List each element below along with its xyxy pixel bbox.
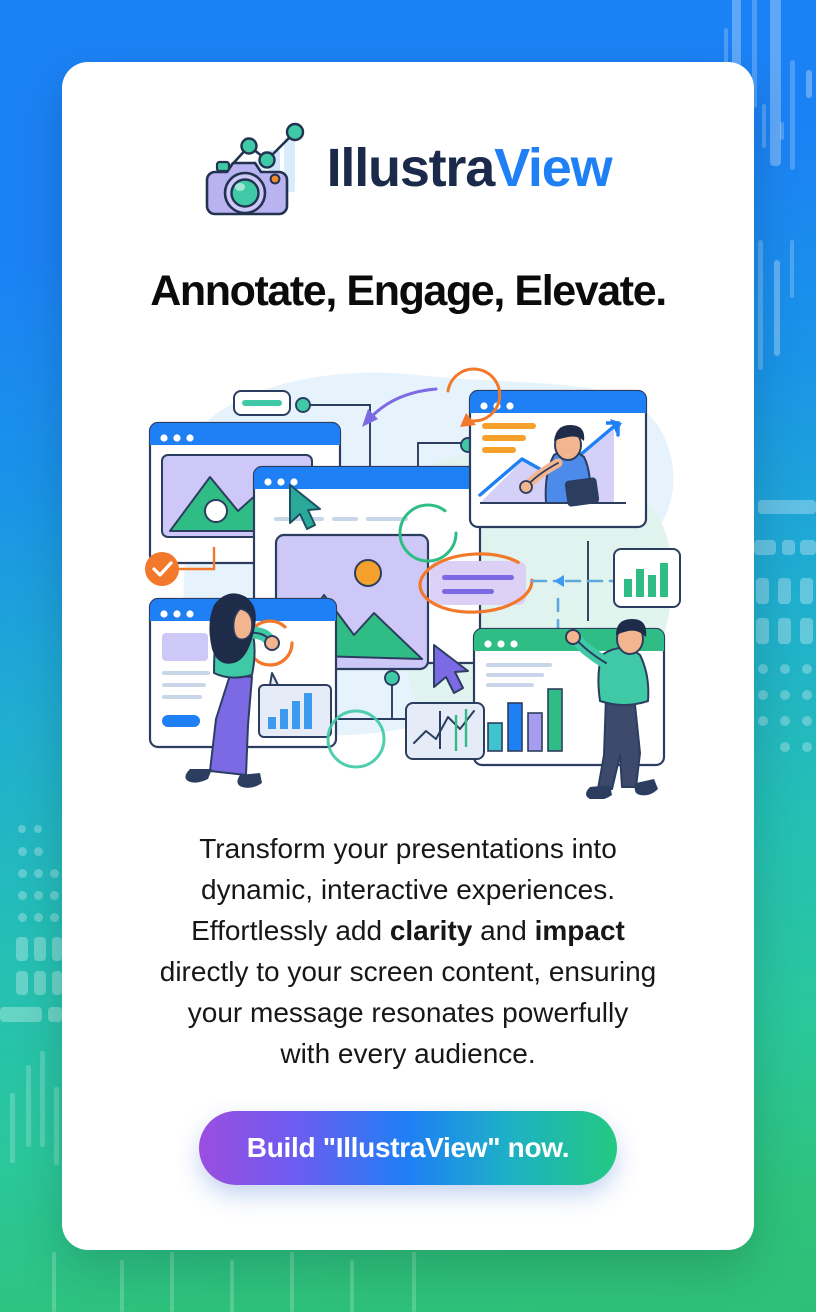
logo: IllustraView [205,116,612,220]
logo-text-primary: Illustra [327,138,494,198]
body-emphasis-impact: impact [535,915,625,946]
background-pattern-bottom-stripes [40,1252,780,1312]
body-line-6: with every audience. [280,1038,535,1069]
browser-window-4 [470,391,646,527]
body-line-3-mid: and [472,915,534,946]
bar-chart-card [614,549,680,607]
hero-illustration [118,351,698,799]
body-line-3-pre: Effortlessly add [191,915,390,946]
body-line-5: your message resonates powerfully [188,997,628,1028]
logo-text-secondary: View [494,138,611,198]
body-copy: Transform your presentations into dynami… [160,829,656,1074]
poster-root: IllustraView Annotate, Engage, Elevate. [0,0,816,1312]
body-line-4: directly to your screen content, ensurin… [160,956,656,987]
body-line-1: Transform your presentations into [199,833,617,864]
annotation-scene-illustration [118,351,698,799]
top-pill [234,391,290,415]
logo-text: IllustraView [327,141,612,195]
headline: Annotate, Engage, Elevate. [150,268,666,315]
cta-build-button[interactable]: Build "IllustraView" now. [199,1111,617,1185]
background-pattern-left-grid [0,825,64,1165]
background-pattern-right-mid [756,240,816,680]
content-card: IllustraView Annotate, Engage, Elevate. [62,62,754,1250]
body-emphasis-clarity: clarity [390,915,473,946]
background-pattern-right-grid [752,540,816,960]
body-line-2: dynamic, interactive experiences. [201,874,615,905]
camera-chart-icon [205,116,313,220]
stock-chart-card [406,703,484,759]
